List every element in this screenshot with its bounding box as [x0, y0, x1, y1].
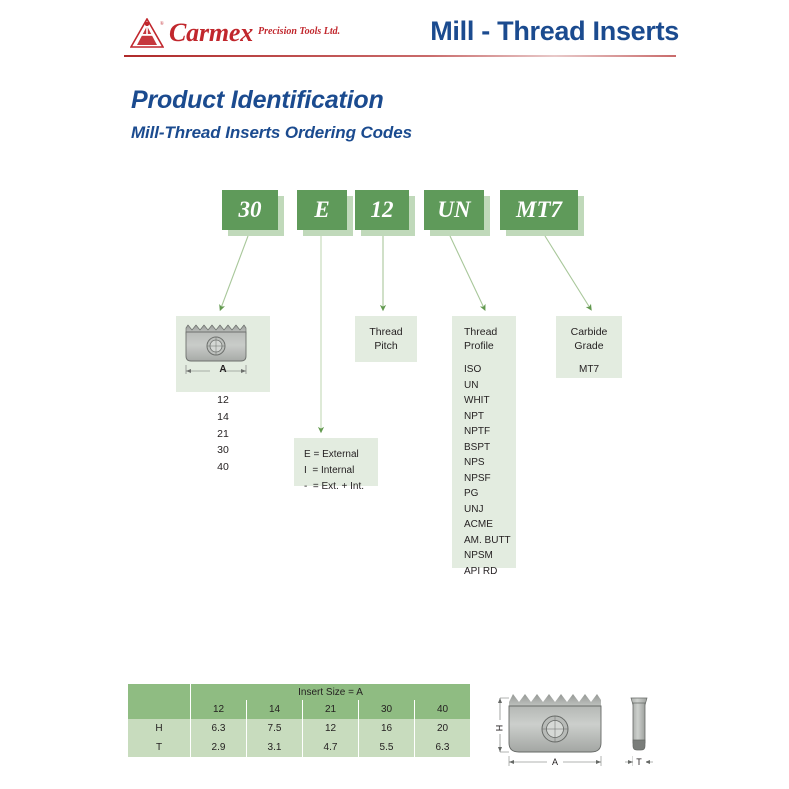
table-cell: 20 — [415, 719, 471, 738]
drawing-thickness-label: T — [636, 757, 642, 767]
svg-text:®: ® — [160, 21, 164, 27]
table-cell: 7.5 — [247, 719, 303, 738]
insert-front-view-diagram — [176, 316, 270, 392]
page-header: ® Carmex Precision Tools Ltd. Mill - Thr… — [0, 0, 789, 62]
table-cell: 3.1 — [247, 738, 303, 757]
product-identification-page: ® Carmex Precision Tools Ltd. Mill - Thr… — [0, 0, 789, 789]
table-column-header: 21 — [303, 700, 359, 719]
table-span-header: Insert Size = A — [191, 684, 471, 700]
insert-size-item: 30 — [176, 442, 270, 459]
brand-tagline: Precision Tools Ltd. — [258, 27, 340, 39]
carmex-logo: ® Carmex Precision Tools Ltd. — [130, 18, 340, 48]
insert-size-item: 14 — [176, 409, 270, 426]
arrow-to-carbide-grade — [545, 236, 590, 308]
table-corner-cell — [128, 684, 191, 719]
insert-size-item: 40 — [176, 459, 270, 476]
table-row: T 2.9 3.1 4.7 5.5 6.3 — [128, 738, 470, 757]
dimension-table: Insert Size = A 12 14 21 30 40 H 6.3 7.5… — [128, 684, 470, 757]
thread-profile-item: NPSM — [464, 548, 516, 564]
drawing-height-label: H — [495, 725, 505, 732]
thread-profile-item: UNJ — [464, 502, 516, 518]
code-box-carbide-grade[interactable]: MT7 — [500, 190, 578, 230]
table-row: H 6.3 7.5 12 16 20 — [128, 719, 470, 738]
thread-profile-item: API RD — [464, 564, 516, 580]
table-column-header: 12 — [191, 700, 247, 719]
section-title: Product Identification — [131, 86, 384, 115]
table-cell: 12 — [303, 719, 359, 738]
table-column-header: 30 — [359, 700, 415, 719]
insert-size-list: 12 14 21 30 40 — [176, 392, 270, 476]
table-cell: 2.9 — [191, 738, 247, 757]
carbide-grade-title-line2: Grade — [556, 340, 622, 354]
carbide-grade-panel: Carbide Grade MT7 — [556, 316, 622, 378]
carbide-grade-title-line1: Carbide — [556, 326, 622, 340]
insert-technical-drawing: H A T — [487, 688, 667, 780]
insert-size-item: 21 — [176, 426, 270, 443]
brand-name: Carmex — [169, 20, 253, 46]
table-cell: 16 — [359, 719, 415, 738]
code-box-direction[interactable]: E — [297, 190, 347, 230]
drawing-width-label: A — [552, 757, 558, 767]
table-cell: 6.3 — [415, 738, 471, 757]
thread-profile-item: NPTF — [464, 424, 516, 440]
section-subtitle: Mill-Thread Inserts Ordering Codes — [131, 123, 412, 143]
thread-profile-item: NPT — [464, 409, 516, 425]
direction-line: I = Internal — [304, 463, 378, 479]
code-box-insert-size[interactable]: 30 — [222, 190, 278, 230]
thread-profile-item: AM. BUTT — [464, 533, 516, 549]
thread-profile-title-line1: Thread — [464, 326, 516, 340]
thread-profile-item: BSPT — [464, 440, 516, 456]
table-cell: 6.3 — [191, 719, 247, 738]
table-cell: 4.7 — [303, 738, 359, 757]
thread-profile-item: NPSF — [464, 471, 516, 487]
arrow-to-insert-size — [221, 236, 248, 308]
carmex-triangle-icon: ® — [130, 18, 164, 48]
thread-pitch-title-line1: Thread — [355, 326, 417, 340]
table-span-header-row: Insert Size = A — [128, 684, 470, 700]
insert-size-item: 12 — [176, 392, 270, 409]
thread-profile-panel: Thread Profile ISO UN WHIT NPT NPTF BSPT… — [452, 316, 516, 568]
thread-pitch-title-line2: Pitch — [355, 340, 417, 354]
thread-profile-item: PG — [464, 486, 516, 502]
direction-line: - = Ext. + Int. — [304, 479, 378, 495]
table-row-label: H — [128, 719, 191, 738]
header-divider — [124, 55, 676, 57]
table-column-header: 40 — [415, 700, 471, 719]
page-title: Mill - Thread Inserts — [430, 16, 679, 47]
thread-profile-title-line2: Profile — [464, 340, 516, 354]
thread-pitch-panel: Thread Pitch — [355, 316, 417, 362]
code-box-thread-profile[interactable]: UN — [424, 190, 484, 230]
table-row-label: T — [128, 738, 191, 757]
table-cell: 5.5 — [359, 738, 415, 757]
thread-profile-item: UN — [464, 378, 516, 394]
thread-profile-item: WHIT — [464, 393, 516, 409]
thread-profile-item: NPS — [464, 455, 516, 471]
carbide-grade-item: MT7 — [556, 362, 622, 378]
direction-panel: E = External I = Internal - = Ext. + Int… — [294, 438, 378, 486]
connector-arrows — [0, 0, 789, 789]
arrow-to-thread-profile — [450, 236, 484, 308]
thread-profile-item: ACME — [464, 517, 516, 533]
thread-profile-item: ISO — [464, 362, 516, 378]
table-column-header: 14 — [247, 700, 303, 719]
insert-width-dimension-label: A — [176, 364, 270, 375]
direction-line: E = External — [304, 447, 378, 463]
code-box-thread-pitch[interactable]: 12 — [355, 190, 409, 230]
